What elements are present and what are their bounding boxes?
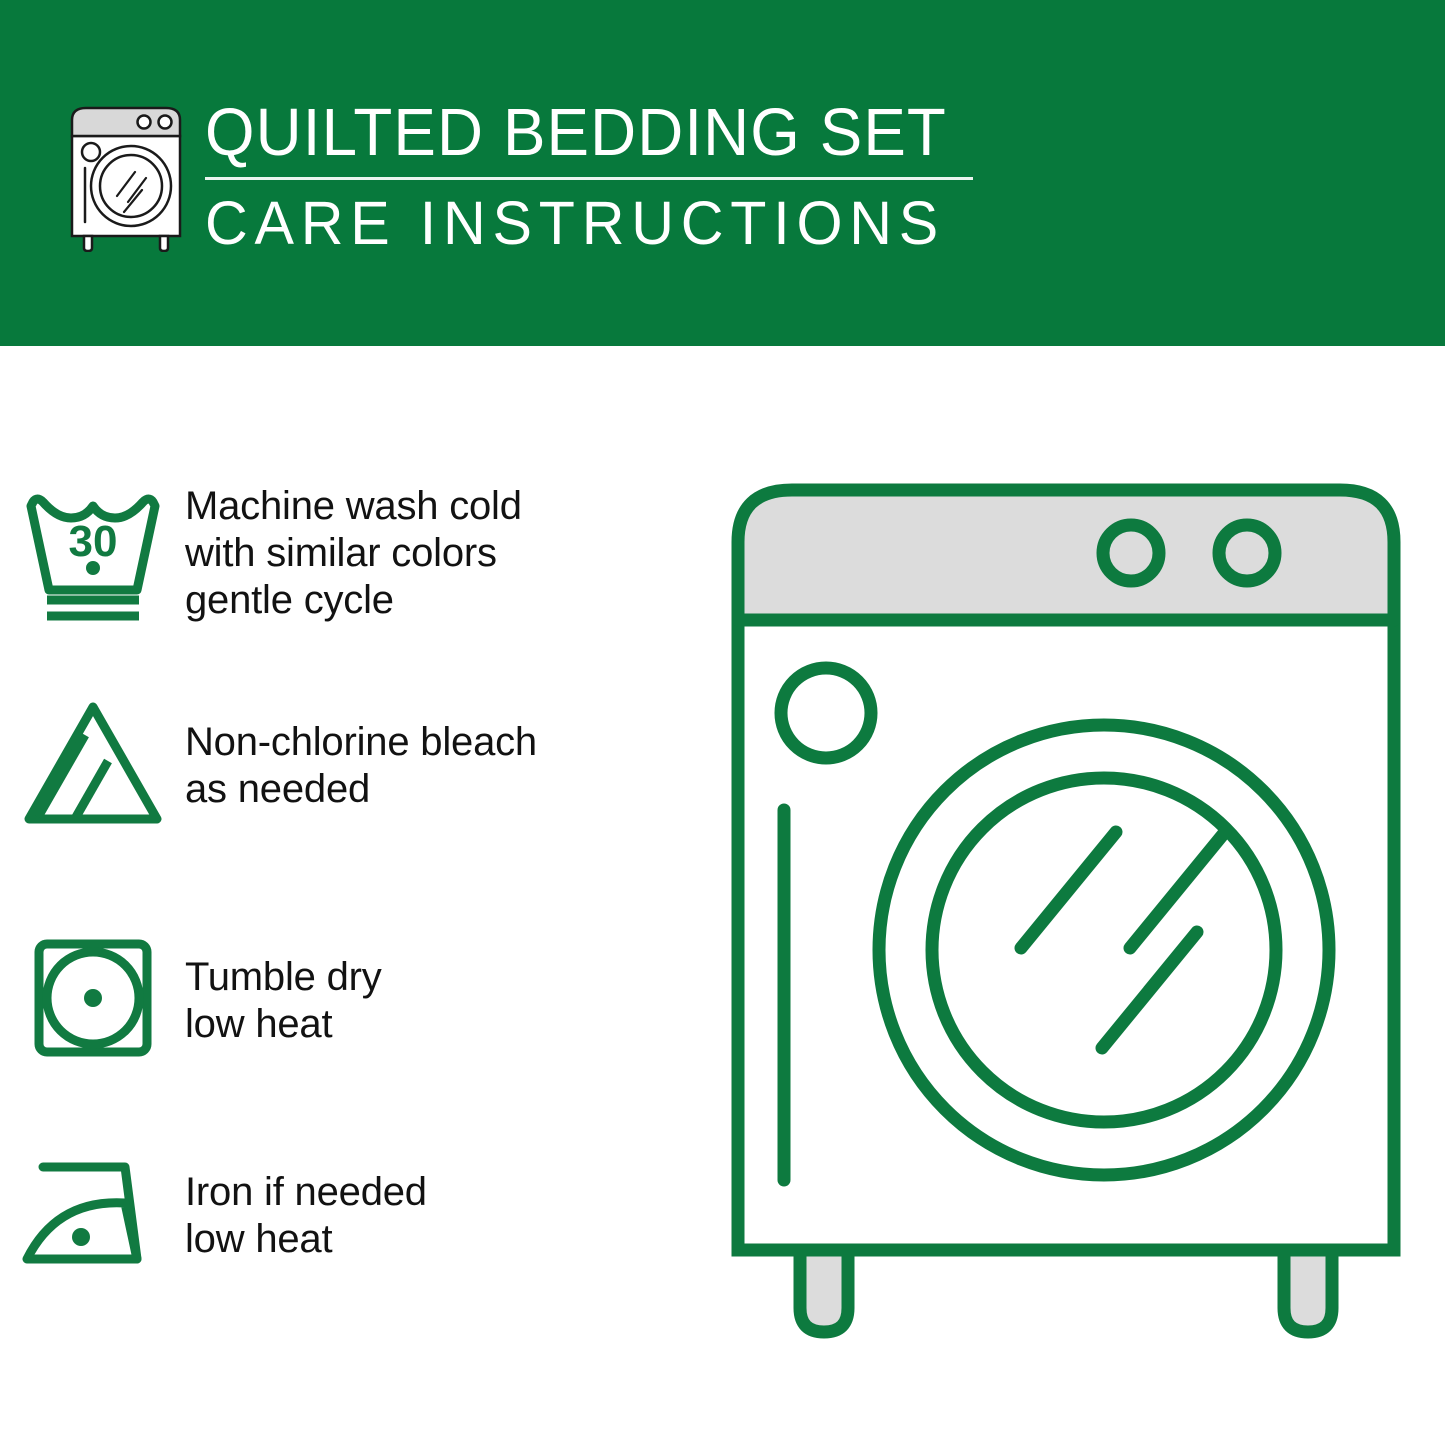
header-banner: QUILTED BEDDING SET CARE INSTRUCTIONS (0, 0, 1445, 346)
wash-temperature-value: 30 (68, 517, 117, 566)
foot-right (1284, 1250, 1332, 1332)
foot-left (800, 1250, 848, 1332)
care-label-line: Non-chlorine bleach (185, 719, 537, 766)
title-divider (205, 177, 973, 180)
machine-wash-30-gentle-icon: 30 (0, 478, 185, 628)
washing-machine-illustration (716, 470, 1416, 1370)
care-label-line: Tumble dry (185, 954, 382, 1001)
page-title: QUILTED BEDDING SET (205, 96, 956, 170)
care-label-line: as needed (185, 766, 537, 813)
care-label-line: Machine wash cold (185, 483, 522, 530)
knob-right (1219, 525, 1275, 581)
care-instructions-page: QUILTED BEDDING SET CARE INSTRUCTIONS 30 (0, 0, 1445, 1445)
non-chlorine-bleach-triangle-icon (0, 691, 185, 841)
care-label-machine-wash: Machine wash cold with similar colors ge… (185, 483, 522, 624)
care-label-iron: Iron if needed low heat (185, 1169, 427, 1263)
care-label-line: gentle cycle (185, 577, 522, 624)
tumble-dry-low-icon (0, 926, 185, 1076)
care-row-tumble-dry: Tumble dry low heat (0, 911, 700, 1091)
care-label-line: low heat (185, 1216, 427, 1263)
care-label-line: low heat (185, 1001, 382, 1048)
header-text-block: QUILTED BEDDING SET CARE INSTRUCTIONS (205, 96, 995, 257)
care-label-tumble-dry: Tumble dry low heat (185, 954, 382, 1048)
care-instruction-list: 30 Machine wash cold with similar colors… (0, 346, 700, 1445)
control-panel (738, 490, 1394, 620)
page-subtitle: CARE INSTRUCTIONS (205, 189, 971, 257)
detergent-dispenser (781, 668, 871, 758)
care-label-bleach: Non-chlorine bleach as needed (185, 719, 537, 813)
washing-machine-icon (62, 100, 190, 252)
care-row-bleach: Non-chlorine bleach as needed (0, 676, 700, 856)
care-row-iron: Iron if needed low heat (0, 1126, 700, 1306)
care-label-line: with similar colors (185, 530, 522, 577)
care-label-line: Iron if needed (185, 1169, 427, 1216)
care-row-machine-wash: 30 Machine wash cold with similar colors… (0, 458, 700, 648)
knob-left (1103, 525, 1159, 581)
iron-low-heat-icon (0, 1141, 185, 1291)
